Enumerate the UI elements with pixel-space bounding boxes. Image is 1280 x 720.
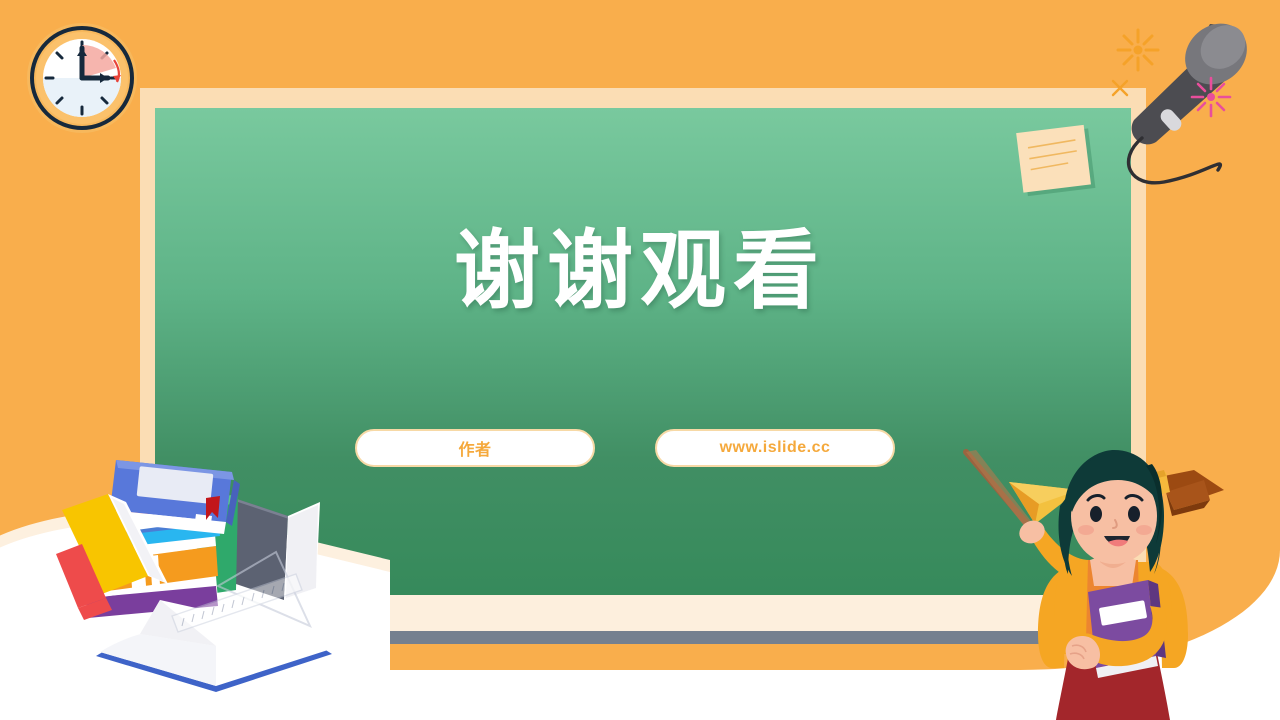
- sparkle-orange-icon: [1116, 28, 1160, 72]
- footer-button-row: 作者 www.islide.cc: [355, 429, 895, 467]
- sparkle-pink-icon: [1190, 76, 1232, 118]
- teacher-character-illustration: [960, 440, 1250, 720]
- clock-icon: [24, 20, 140, 136]
- author-button[interactable]: 作者: [355, 429, 595, 467]
- website-button[interactable]: www.islide.cc: [655, 429, 895, 467]
- page-title: 谢谢观看: [0, 228, 1280, 314]
- sparkle-small-orange-icon: [1108, 76, 1132, 100]
- sticky-note-icon: [1010, 122, 1110, 202]
- slide-canvas: 谢谢观看 作者 www.islide.cc: [0, 0, 1280, 720]
- books-stack-illustration: [20, 440, 390, 715]
